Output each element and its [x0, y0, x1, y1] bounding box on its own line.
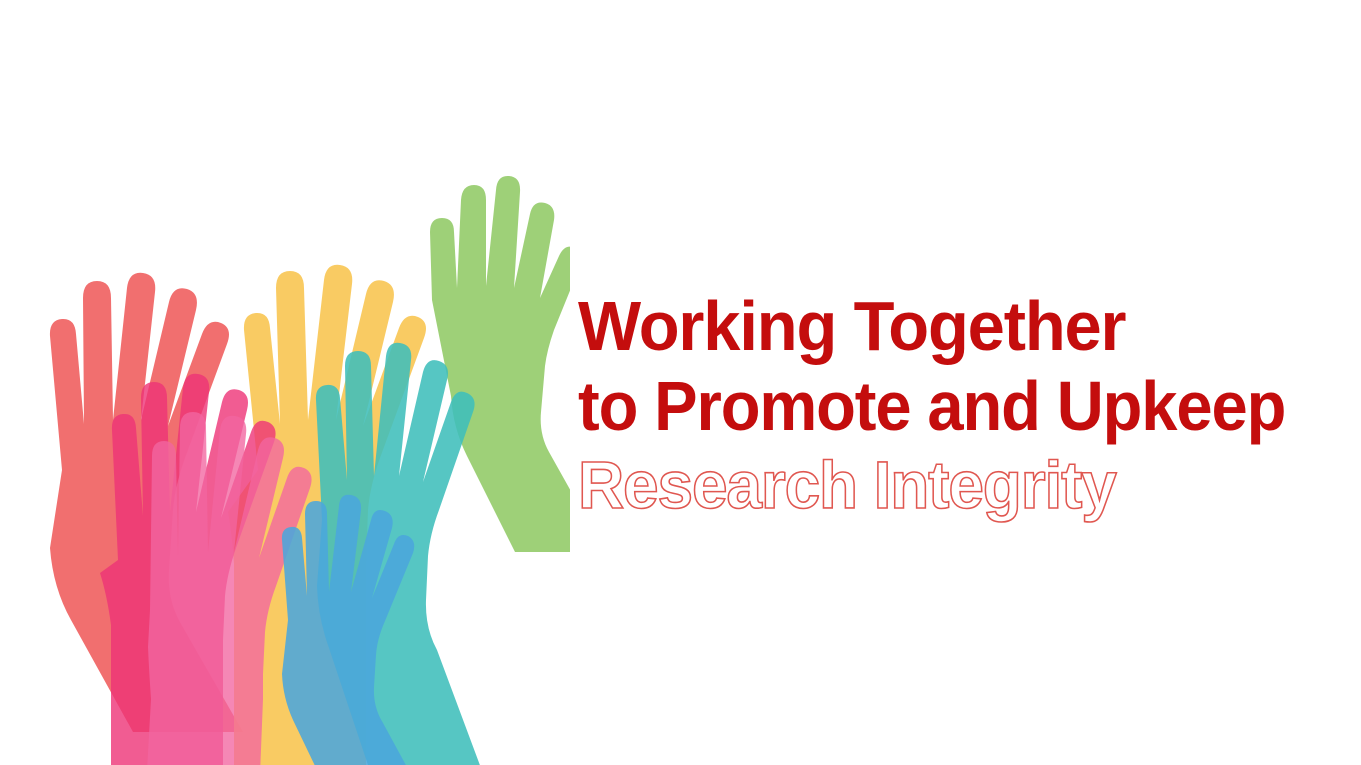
- raised-hands-illustration: [0, 0, 570, 765]
- subtitle-research-integrity: Research Integrity: [578, 447, 1323, 525]
- headline-line-2: to Promote and Upkeep: [578, 366, 1303, 446]
- poster-canvas: Working Together to Promote and Upkeep R…: [0, 0, 1361, 765]
- hand-green: [430, 176, 570, 552]
- title-block: Working Together to Promote and Upkeep R…: [578, 286, 1358, 525]
- headline-line-1: Working Together: [578, 286, 1323, 366]
